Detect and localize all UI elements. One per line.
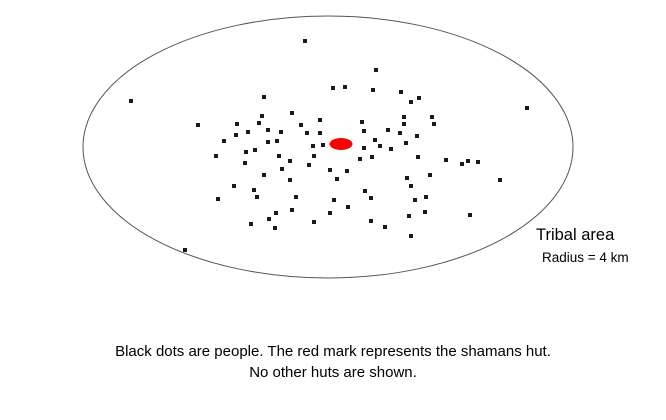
person-dot bbox=[232, 184, 236, 188]
person-dot bbox=[374, 68, 378, 72]
person-dot bbox=[409, 234, 413, 238]
tribal-area-radius-label: Radius = 4 km bbox=[542, 250, 629, 266]
person-dot bbox=[312, 154, 316, 158]
person-dot bbox=[415, 134, 419, 138]
person-dot bbox=[318, 131, 322, 135]
person-dot bbox=[262, 95, 266, 99]
person-dot bbox=[362, 129, 366, 133]
person-dot bbox=[312, 220, 316, 224]
person-dot bbox=[328, 211, 332, 215]
person-dot bbox=[253, 148, 257, 152]
figure-caption: Black dots are people. The red mark repr… bbox=[0, 341, 666, 383]
person-dot bbox=[423, 210, 427, 214]
shamans-hut-marker bbox=[330, 138, 353, 150]
person-dot bbox=[383, 225, 387, 229]
person-dot bbox=[417, 96, 421, 100]
person-dot bbox=[303, 39, 307, 43]
person-dot bbox=[290, 111, 294, 115]
tribal-area-diagram: Tribal area Radius = 4 km Black dots are… bbox=[0, 0, 666, 420]
person-dot bbox=[399, 90, 403, 94]
person-dot bbox=[318, 118, 322, 122]
people-dots-group bbox=[129, 39, 529, 252]
caption-line-2: No other huts are shown. bbox=[0, 362, 666, 383]
person-dot bbox=[262, 173, 266, 177]
person-dot bbox=[370, 155, 374, 159]
person-dot bbox=[299, 123, 303, 127]
person-dot bbox=[335, 177, 339, 181]
person-dot bbox=[234, 133, 238, 137]
person-dot bbox=[409, 100, 413, 104]
person-dot bbox=[345, 169, 349, 173]
person-dot bbox=[398, 131, 402, 135]
person-dot bbox=[358, 157, 362, 161]
person-dot bbox=[214, 154, 218, 158]
person-dot bbox=[243, 161, 247, 165]
person-dot bbox=[249, 222, 253, 226]
person-dot bbox=[409, 184, 413, 188]
person-dot bbox=[279, 130, 283, 134]
person-dot bbox=[363, 189, 367, 193]
person-dot bbox=[460, 162, 464, 166]
person-dot bbox=[466, 159, 470, 163]
caption-line-1: Black dots are people. The red mark repr… bbox=[0, 341, 666, 362]
person-dot bbox=[307, 163, 311, 167]
person-dot bbox=[402, 115, 406, 119]
tribal-area-label: Tribal area bbox=[536, 226, 614, 245]
person-dot bbox=[274, 211, 278, 215]
person-dot bbox=[378, 144, 382, 148]
person-dot bbox=[332, 198, 336, 202]
person-dot bbox=[260, 114, 264, 118]
person-dot bbox=[266, 140, 270, 144]
person-dot bbox=[386, 128, 390, 132]
person-dot bbox=[346, 205, 350, 209]
person-dot bbox=[277, 154, 281, 158]
person-dot bbox=[266, 128, 270, 132]
person-dot bbox=[430, 115, 434, 119]
person-dot bbox=[246, 130, 250, 134]
person-dot bbox=[371, 88, 375, 92]
person-dot bbox=[428, 173, 432, 177]
person-dot bbox=[255, 195, 259, 199]
person-dot bbox=[290, 208, 294, 212]
person-dot bbox=[476, 160, 480, 164]
person-dot bbox=[389, 147, 393, 151]
person-dot bbox=[424, 195, 428, 199]
person-dot bbox=[468, 213, 472, 217]
person-dot bbox=[407, 214, 411, 218]
person-dot bbox=[235, 122, 239, 126]
person-dot bbox=[405, 176, 409, 180]
person-dot bbox=[343, 85, 347, 89]
person-dot bbox=[305, 131, 309, 135]
person-dot bbox=[362, 146, 366, 150]
person-dot bbox=[129, 99, 133, 103]
person-dot bbox=[257, 121, 261, 125]
person-dot bbox=[402, 122, 406, 126]
person-dot bbox=[288, 178, 292, 182]
person-dot bbox=[328, 168, 332, 172]
tribal-area-boundary-ellipse bbox=[83, 16, 573, 278]
person-dot bbox=[360, 120, 364, 124]
person-dot bbox=[331, 86, 335, 90]
person-dot bbox=[216, 197, 220, 201]
person-dot bbox=[498, 178, 502, 182]
person-dot bbox=[413, 198, 417, 202]
person-dot bbox=[525, 106, 529, 110]
person-dot bbox=[369, 219, 373, 223]
person-dot bbox=[267, 217, 271, 221]
person-dot bbox=[294, 195, 298, 199]
person-dot bbox=[275, 139, 279, 143]
person-dot bbox=[280, 167, 284, 171]
person-dot bbox=[373, 138, 377, 142]
person-dot bbox=[183, 248, 187, 252]
person-dot bbox=[404, 141, 408, 145]
person-dot bbox=[196, 123, 200, 127]
person-dot bbox=[222, 139, 226, 143]
person-dot bbox=[321, 143, 325, 147]
person-dot bbox=[369, 196, 373, 200]
person-dot bbox=[244, 150, 248, 154]
person-dot bbox=[311, 144, 315, 148]
person-dot bbox=[432, 122, 436, 126]
person-dot bbox=[273, 226, 277, 230]
person-dot bbox=[416, 155, 420, 159]
person-dot bbox=[252, 188, 256, 192]
person-dot bbox=[444, 158, 448, 162]
person-dot bbox=[288, 159, 292, 163]
